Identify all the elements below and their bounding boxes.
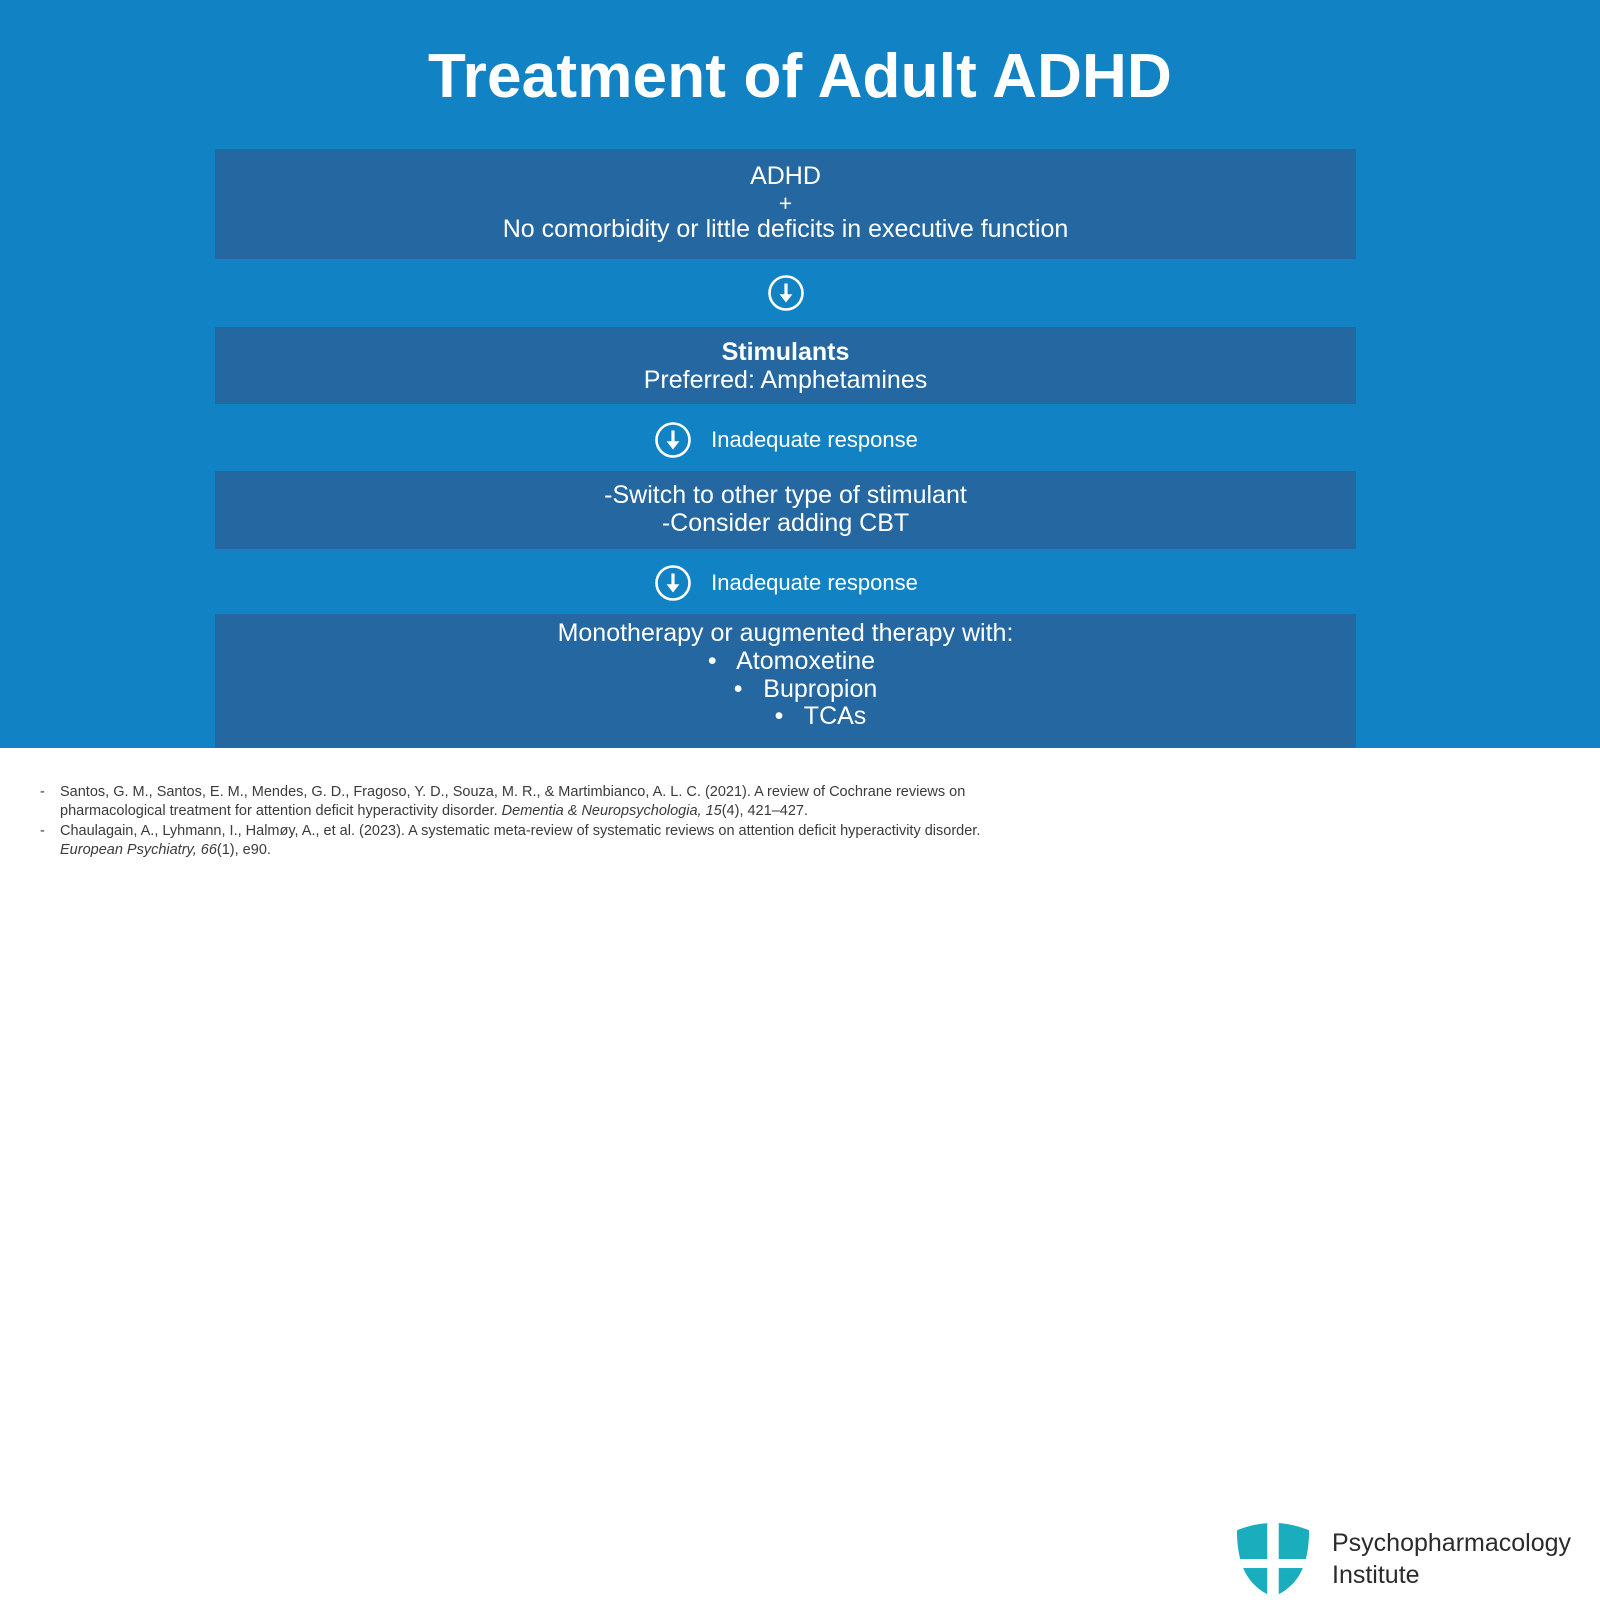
circle-arrow-down-icon <box>653 420 693 460</box>
flow-arrow-2-label: Inadequate response <box>711 427 918 453</box>
flow-box-switch-line-1: -Switch to other type of stimulant <box>215 482 1356 510</box>
flow-arrow-3-label: Inadequate response <box>711 570 918 596</box>
flow-box-switch: -Switch to other type of stimulant -Cons… <box>215 471 1356 549</box>
flow-arrow-3: Inadequate response <box>215 561 1356 605</box>
reference-text: Chaulagain, A., Lyhmann, I., Halmøy, A.,… <box>60 822 1000 859</box>
brand-name: Psychopharmacology Institute <box>1332 1527 1571 1591</box>
flow-arrow-1 <box>215 271 1356 315</box>
page-title: Treatment of Adult ADHD <box>0 44 1600 109</box>
flow-box-switch-line-2: -Consider adding CBT <box>215 510 1356 538</box>
slide: Treatment of Adult ADHD ADHD + No comorb… <box>0 0 1600 899</box>
flow-box-nonstimulants-bullet-3: • TCAs <box>215 703 1356 731</box>
flow-arrow-2: Inadequate response <box>215 418 1356 462</box>
reference-item: - Santos, G. M., Santos, E. M., Mendes, … <box>40 783 1000 820</box>
flow-box-diagnosis: ADHD + No comorbidity or little deficits… <box>215 149 1356 259</box>
reference-item: - Chaulagain, A., Lyhmann, I., Halmøy, A… <box>40 822 1000 859</box>
brand-logo: Psychopharmacology Institute <box>1232 1518 1571 1600</box>
flow-box-diagnosis-line-1: ADHD <box>215 163 1356 191</box>
circle-arrow-down-icon <box>653 563 693 603</box>
slide-canvas: Treatment of Adult ADHD ADHD + No comorb… <box>0 0 1600 748</box>
flow-box-diagnosis-line-2: + <box>215 191 1356 217</box>
reference-1-part2: (4), 421–427. <box>722 803 808 819</box>
flow-box-diagnosis-line-3: No comorbidity or little deficits in exe… <box>215 216 1356 244</box>
reference-2-part1: Chaulagain, A., Lyhmann, I., Halmøy, A.,… <box>60 823 980 839</box>
flow-box-nonstimulants-bullet-2: • Bupropion <box>215 676 1356 704</box>
flow-box-stimulants-line-1: Stimulants <box>215 339 1356 367</box>
shield-body <box>1232 1518 1314 1600</box>
flow-box-nonstimulants-heading: Monotherapy or augmented therapy with: <box>215 620 1356 648</box>
reference-1-journal: Dementia & Neuropsychologia, 15 <box>502 803 722 819</box>
reference-dash: - <box>40 822 60 859</box>
reference-2-part2: (1), e90. <box>217 842 271 858</box>
flow-box-stimulants-line-2: Preferred: Amphetamines <box>215 367 1356 395</box>
circle-arrow-down-icon <box>766 273 806 313</box>
reference-list: - Santos, G. M., Santos, E. M., Mendes, … <box>40 783 1000 861</box>
flow-box-nonstimulants: Monotherapy or augmented therapy with: •… <box>215 614 1356 748</box>
flow-box-stimulants: Stimulants Preferred: Amphetamines <box>215 327 1356 404</box>
reference-2-journal: European Psychiatry, 66 <box>60 842 217 858</box>
reference-text: Santos, G. M., Santos, E. M., Mendes, G.… <box>60 783 1000 820</box>
reference-dash: - <box>40 783 60 820</box>
slide-footer: - Santos, G. M., Santos, E. M., Mendes, … <box>0 748 1600 899</box>
flow-box-nonstimulants-bullet-1: • Atomoxetine <box>215 648 1356 676</box>
shield-cross-logo-icon <box>1232 1518 1314 1600</box>
